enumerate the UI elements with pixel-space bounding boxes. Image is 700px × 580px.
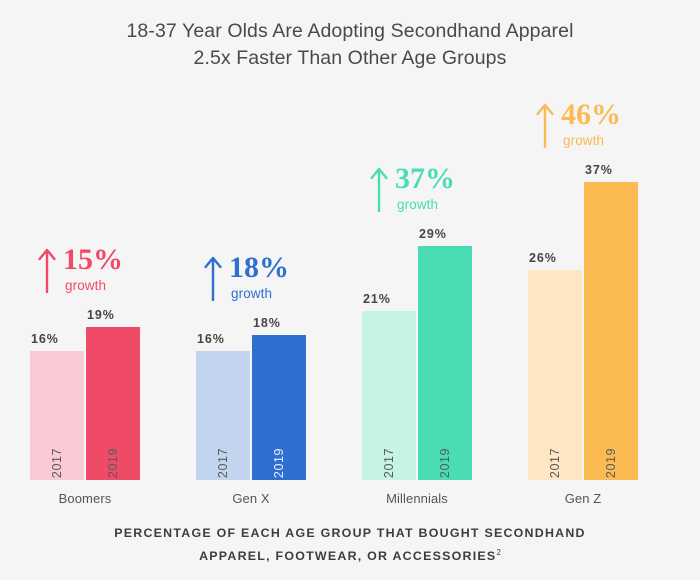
bar-2017[interactable]: 201716% (30, 351, 84, 480)
bar-value-label: 29% (419, 227, 447, 241)
bar-rect (584, 182, 638, 480)
growth-callout-boomers: 15%growth (38, 245, 123, 293)
bar-2019[interactable]: 201937% (584, 182, 638, 480)
growth-word-label: growth (397, 198, 455, 212)
caption-line-2-text: APPAREL, FOOTWEAR, OR ACCESSORIES (199, 549, 496, 563)
plot-area: 201716%201919%Boomers15%growth201716%201… (0, 0, 700, 580)
bar-year-label: 2019 (86, 456, 140, 470)
bar-value-label: 18% (253, 316, 281, 330)
bar-2019[interactable]: 201929% (418, 246, 472, 480)
bar-year-label: 2017 (196, 456, 250, 470)
arrow-up-icon (536, 102, 554, 148)
bar-group-gen-x: 201716%201918%Gen X18%growth (196, 0, 306, 580)
bar-2019[interactable]: 201919% (86, 327, 140, 480)
bar-group-gen-z: 201726%201937%Gen Z46%growth (528, 0, 638, 580)
bar-group-boomers: 201716%201919%Boomers15%growth (30, 0, 140, 580)
category-label-boomers: Boomers (12, 491, 158, 506)
arrow-up-icon (370, 166, 388, 212)
chart-caption: PERCENTAGE OF EACH AGE GROUP THAT BOUGHT… (0, 523, 700, 566)
bar-2019[interactable]: 201918% (252, 335, 306, 480)
bar-year-label: 2017 (30, 456, 84, 470)
growth-callout-millennials: 37%growth (370, 164, 455, 212)
category-label-millennials: Millennials (344, 491, 490, 506)
growth-percent: 18% (229, 253, 289, 283)
bar-year-label: 2017 (362, 456, 416, 470)
bar-year-label: 2019 (252, 456, 306, 470)
caption-line-2: APPAREL, FOOTWEAR, OR ACCESSORIES2 (0, 543, 700, 566)
bar-year-label: 2019 (584, 456, 638, 470)
category-label-gen-z: Gen Z (510, 491, 656, 506)
growth-percent: 37% (395, 164, 455, 194)
bar-rect (418, 246, 472, 480)
caption-footnote-marker: 2 (496, 548, 500, 557)
growth-callout-gen-z: 46%growth (536, 100, 621, 148)
arrow-up-icon (38, 247, 56, 293)
bar-value-label: 19% (87, 308, 115, 322)
growth-callout-gen-x: 18%growth (204, 253, 289, 301)
infographic-bar-chart: 18-37 Year Olds Are Adopting Secondhand … (0, 0, 700, 580)
bar-group-millennials: 201721%201929%Millennials37%growth (362, 0, 472, 580)
bar-value-label: 16% (197, 332, 225, 346)
bar-year-label: 2019 (418, 456, 472, 470)
category-label-gen-x: Gen X (178, 491, 324, 506)
bar-year-label: 2017 (528, 456, 582, 470)
growth-percent: 46% (561, 100, 621, 130)
bar-2017[interactable]: 201716% (196, 351, 250, 480)
growth-word-label: growth (231, 287, 289, 301)
bar-value-label: 26% (529, 251, 557, 265)
bar-value-label: 21% (363, 292, 391, 306)
bar-value-label: 16% (31, 332, 59, 346)
bar-2017[interactable]: 201726% (528, 270, 582, 480)
bar-2017[interactable]: 201721% (362, 311, 416, 480)
growth-word-label: growth (65, 279, 123, 293)
growth-word-label: growth (563, 134, 621, 148)
bar-value-label: 37% (585, 163, 613, 177)
arrow-up-icon (204, 255, 222, 301)
growth-percent: 15% (63, 245, 123, 275)
caption-line-1: PERCENTAGE OF EACH AGE GROUP THAT BOUGHT… (0, 523, 700, 543)
